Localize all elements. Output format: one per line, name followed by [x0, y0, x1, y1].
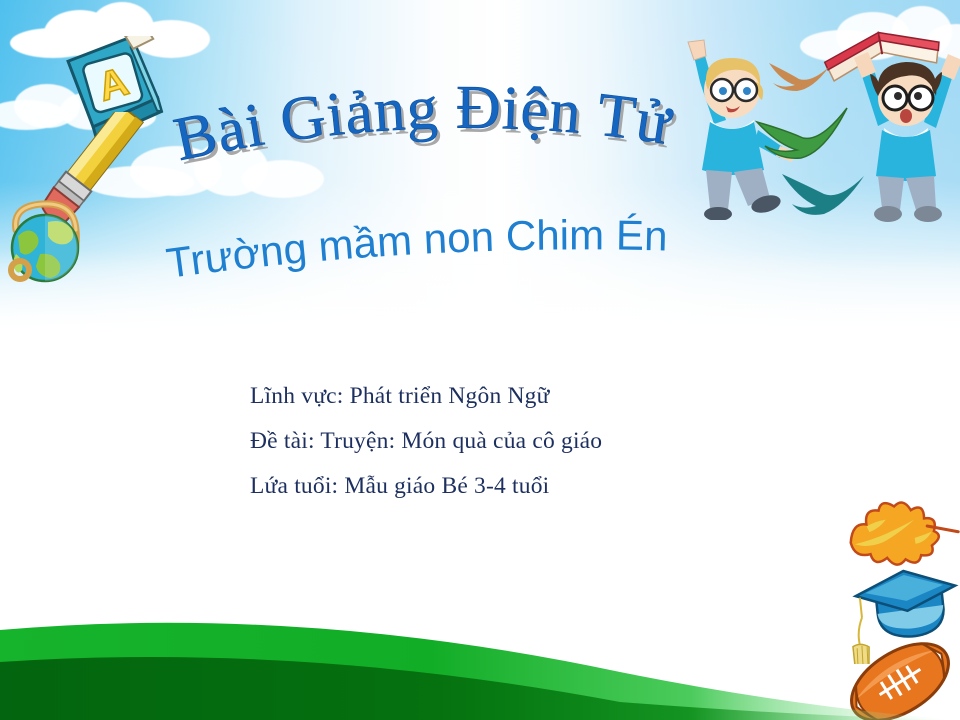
- body-line-field: Lĩnh vực: Phát triển Ngôn Ngữ: [250, 374, 810, 419]
- globe-icon: [2, 196, 94, 292]
- autumn-leaf-icon: [838, 496, 960, 572]
- presentation-slide: A: [0, 0, 960, 720]
- sky-white-fade: [0, 250, 960, 380]
- bird-green-icon: [755, 100, 851, 166]
- green-hill-decoration: [0, 590, 960, 720]
- body-line-age: Lứa tuổi: Mẫu giáo Bé 3-4 tuổi: [250, 464, 810, 509]
- slide-body-text: Lĩnh vực: Phát triển Ngôn Ngữ Đề tài: Tr…: [250, 374, 810, 509]
- bird-teal-icon: [778, 160, 868, 222]
- body-line-topic: Đề tài: Truyện: Món quà của cô giáo: [250, 419, 810, 464]
